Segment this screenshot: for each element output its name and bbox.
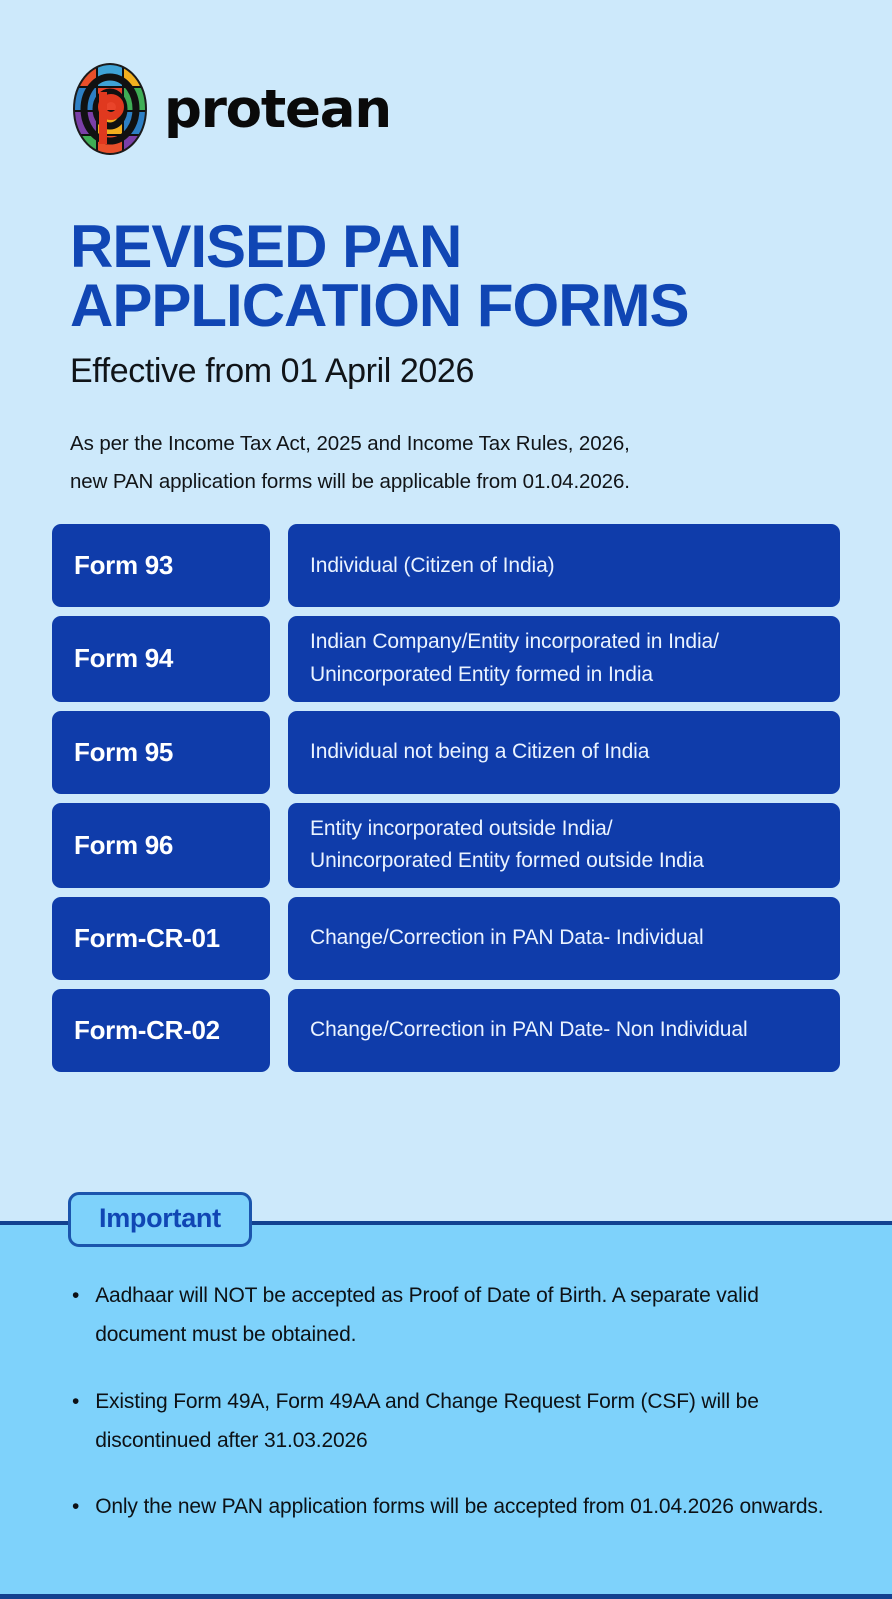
form-desc-line-1: Individual not being a Citizen of India (310, 736, 818, 769)
form-desc-line-2: Unincorporated Entity formed in India (310, 659, 818, 692)
page-title-line2: APPLICATION FORMS (70, 277, 850, 336)
table-row: Form 95 Individual not being a Citizen o… (52, 711, 840, 794)
form-description-cell: Individual not being a Citizen of India (288, 711, 840, 794)
page-title: REVISED PAN APPLICATION FORMS (70, 218, 850, 336)
form-description-cell: Change/Correction in PAN Data- Individua… (288, 897, 840, 980)
form-description-cell: Change/Correction in PAN Date- Non Indiv… (288, 989, 840, 1072)
form-desc-line-1: Entity incorporated outside India/ (310, 813, 818, 846)
form-description-cell: Indian Company/Entity incorporated in In… (288, 616, 840, 701)
form-code-cell: Form 94 (52, 616, 270, 701)
intro-line-1: As per the Income Tax Act, 2025 and Inco… (70, 432, 630, 455)
forms-table: Form 93 Individual (Citizen of India) Fo… (52, 524, 840, 1071)
table-row: Form 94 Indian Company/Entity incorporat… (52, 616, 840, 701)
bullet-icon: • (72, 1488, 79, 1527)
top-panel: protean REVISED PAN APPLICATION FORMS Ef… (0, 0, 892, 1226)
list-item: • Only the new PAN application forms wil… (72, 1488, 832, 1527)
table-row: Form-CR-02 Change/Correction in PAN Date… (52, 989, 840, 1072)
brand-name: protean (164, 83, 391, 136)
note-text: Aadhaar will NOT be accepted as Proof of… (95, 1277, 832, 1355)
form-code-cell: Form-CR-02 (52, 989, 270, 1072)
form-code-cell: Form 95 (52, 711, 270, 794)
protean-mosaic-globe-logo-icon (70, 62, 150, 156)
table-row: Form 93 Individual (Citizen of India) (52, 524, 840, 607)
note-text: Existing Form 49A, Form 49AA and Change … (95, 1383, 832, 1461)
status-badge: Important (68, 1192, 252, 1247)
important-notes-panel: • Aadhaar will NOT be accepted as Proof … (0, 1225, 892, 1599)
list-item: • Existing Form 49A, Form 49AA and Chang… (72, 1383, 832, 1461)
form-code-cell: Form 96 (52, 803, 270, 888)
form-desc-line-1: Indian Company/Entity incorporated in In… (310, 626, 818, 659)
bullet-icon: • (72, 1383, 79, 1461)
form-desc-line-1: Individual (Citizen of India) (310, 550, 818, 583)
bullet-icon: • (72, 1277, 79, 1355)
form-code-cell: Form 93 (52, 524, 270, 607)
form-desc-line-1: Change/Correction in PAN Date- Non Indiv… (310, 1014, 818, 1047)
table-row: Form-CR-01 Change/Correction in PAN Data… (52, 897, 840, 980)
page-title-line1: REVISED PAN (70, 213, 461, 280)
notes-list: • Aadhaar will NOT be accepted as Proof … (72, 1277, 832, 1527)
form-code-cell: Form-CR-01 (52, 897, 270, 980)
note-text: Only the new PAN application forms will … (95, 1488, 823, 1527)
page-subtitle: Effective from 01 April 2026 (70, 352, 892, 391)
form-description-cell: Entity incorporated outside India/ Uninc… (288, 803, 840, 888)
list-item: • Aadhaar will NOT be accepted as Proof … (72, 1277, 832, 1355)
intro-paragraph: As per the Income Tax Act, 2025 and Inco… (70, 425, 770, 501)
brand-header: protean (0, 0, 892, 156)
form-desc-line-2: Unincorporated Entity formed outside Ind… (310, 845, 818, 878)
intro-line-2: new PAN application forms will be applic… (70, 470, 630, 493)
form-description-cell: Individual (Citizen of India) (288, 524, 840, 607)
table-row: Form 96 Entity incorporated outside Indi… (52, 803, 840, 888)
form-desc-line-1: Change/Correction in PAN Data- Individua… (310, 922, 818, 955)
